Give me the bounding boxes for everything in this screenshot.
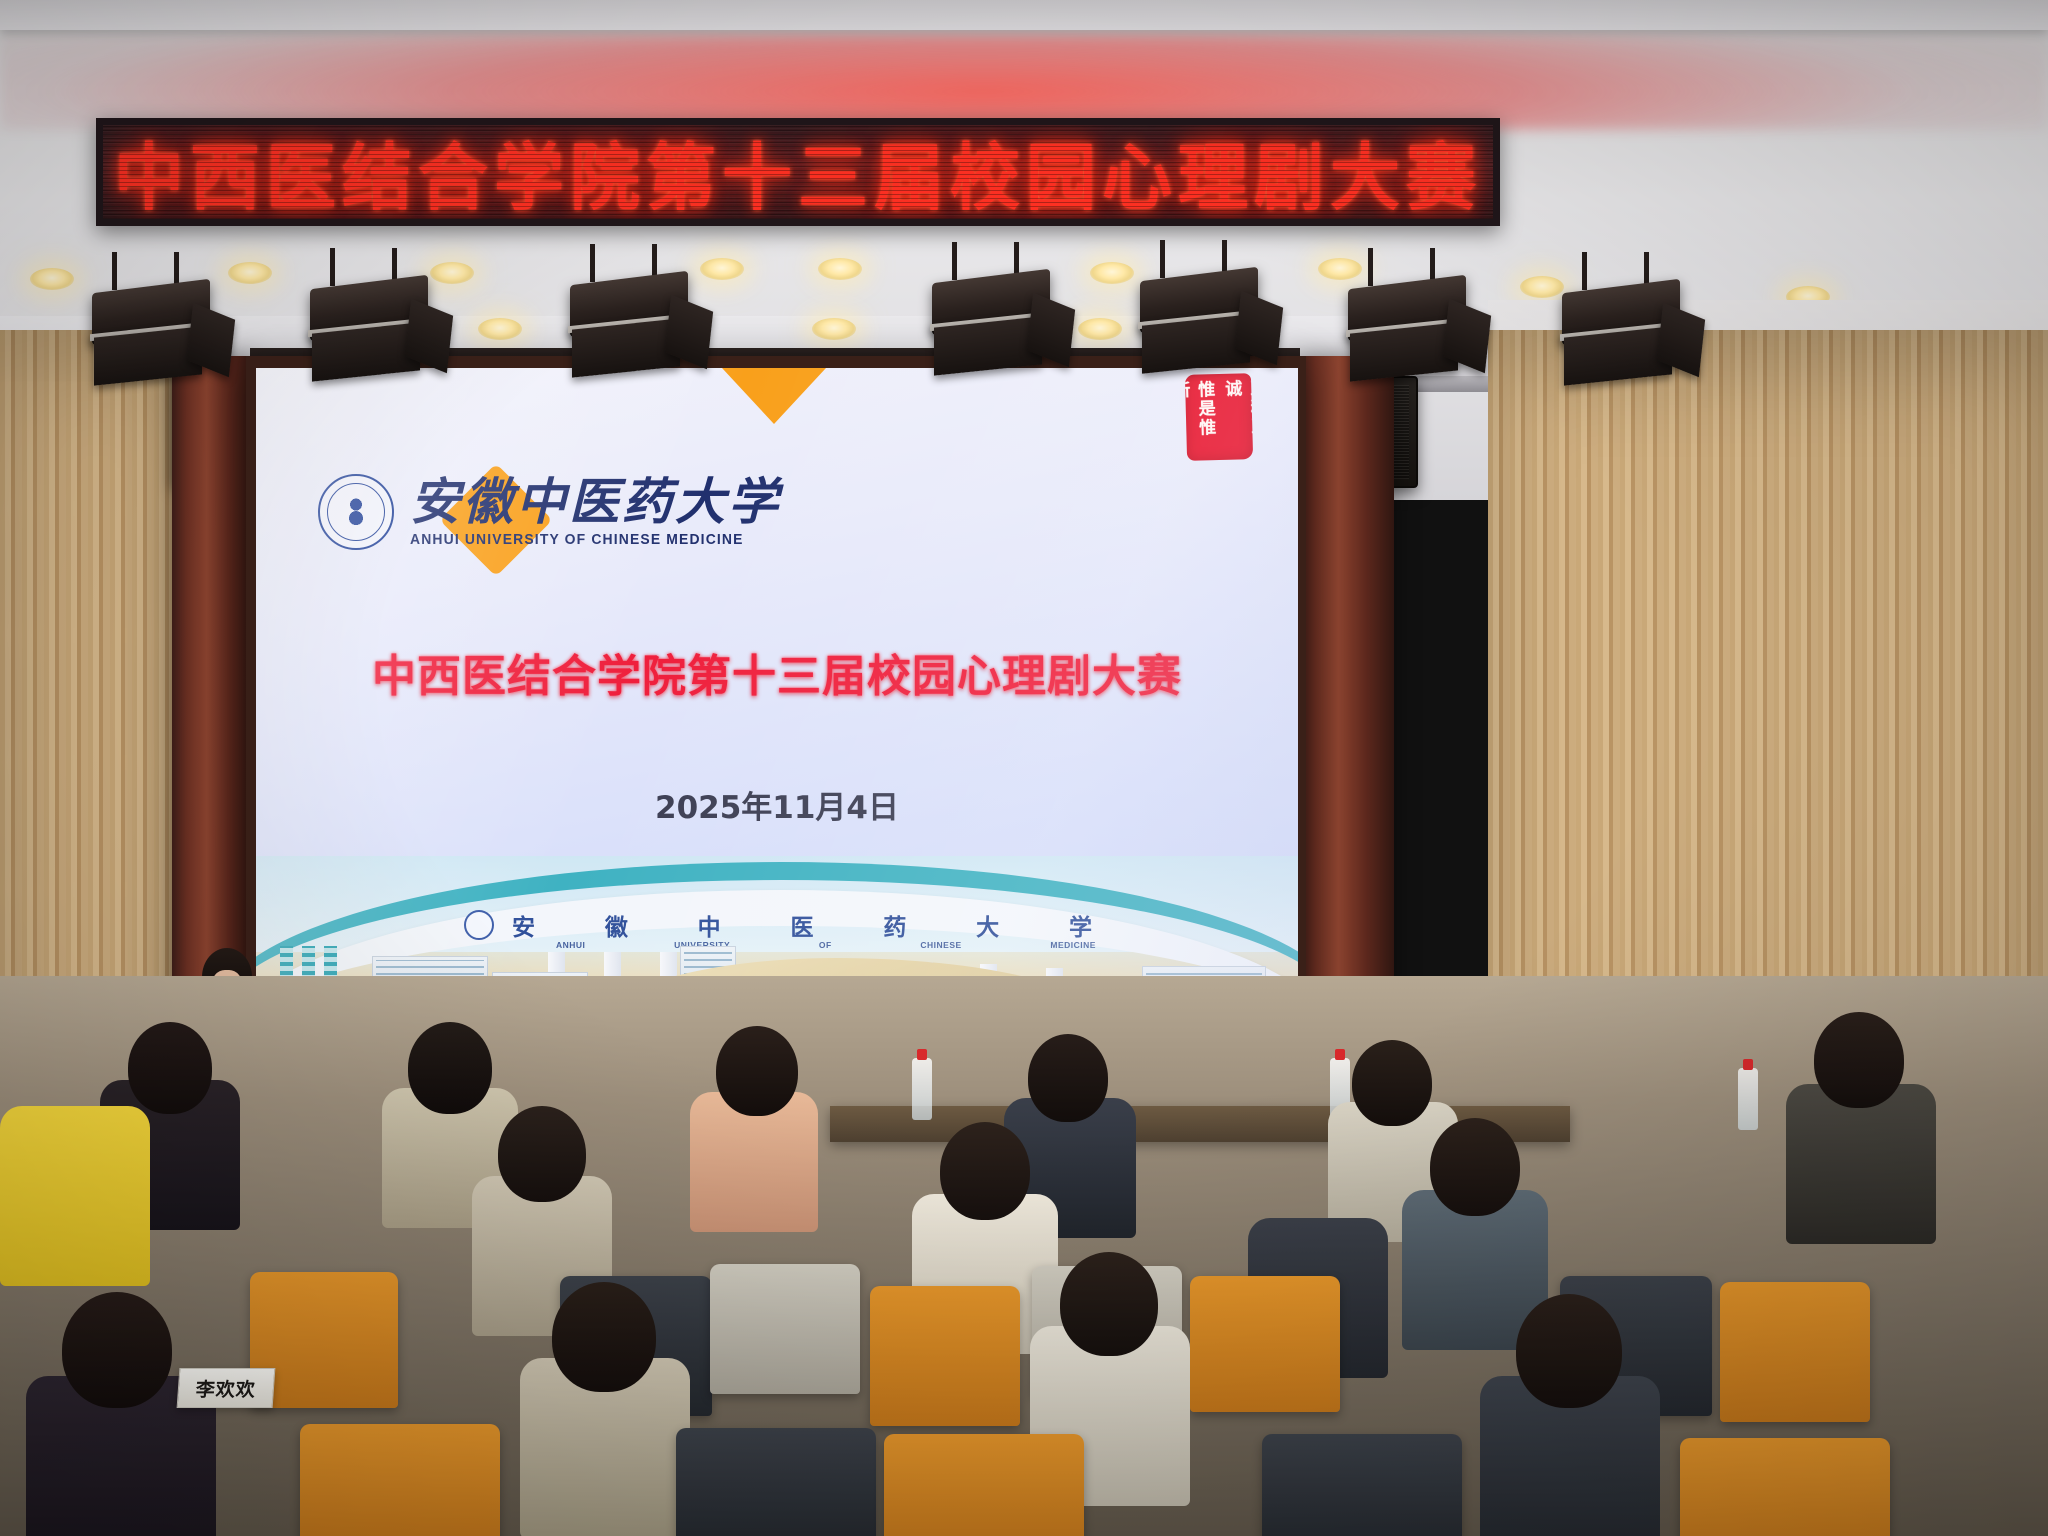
water-bottle-icon (1738, 1068, 1758, 1130)
ceiling-downlight-icon (478, 318, 522, 340)
audience-head (1516, 1294, 1622, 1408)
auditorium-scene: 中西医结合学院第十三届校园心理剧大赛 安徽中医药大学 ANHUI UNIVERS… (0, 0, 2048, 1536)
university-name-en: ANHUI UNIVERSITY OF CHINESE MEDICINE (410, 532, 766, 548)
audience-chair[interactable] (676, 1428, 876, 1536)
stage-light-icon (1126, 274, 1276, 370)
ceiling-downlight-icon (700, 258, 744, 280)
seal-column-1: 至精至诚 (1219, 379, 1253, 454)
audience-torso (0, 1106, 150, 1286)
audience-chair[interactable] (1680, 1438, 1890, 1536)
gate-char: 徽 (605, 908, 628, 942)
stage-column-right (1298, 356, 1394, 1056)
ceiling-downlight-icon (430, 262, 474, 284)
stage-light-icon (1548, 286, 1698, 382)
gate-char: 大 (976, 908, 999, 942)
gate-word: CHINESE (920, 940, 961, 950)
ceiling-red-glow (0, 34, 2048, 130)
led-banner-surface: 中西医结合学院第十三届校园心理剧大赛 (103, 125, 1493, 219)
gate-char: 学 (1069, 908, 1092, 942)
gate-char: 医 (790, 908, 813, 942)
audience-chair[interactable] (1720, 1282, 1870, 1422)
audience-head (552, 1282, 656, 1392)
audience-head (1028, 1034, 1108, 1122)
audience-head (408, 1022, 492, 1114)
led-banner: 中西医结合学院第十三届校园心理剧大赛 (96, 118, 1500, 226)
ceiling-beam (0, 0, 2048, 30)
ceiling-downlight-icon (1318, 258, 1362, 280)
led-banner-text: 中西医结合学院第十三届校园心理剧大赛 (114, 119, 1482, 224)
slide-title: 中西医结合学院第十三届校园心理剧大赛 (256, 640, 1298, 704)
ceiling-downlight-icon (812, 318, 856, 340)
water-bottle-icon (912, 1058, 932, 1120)
slide-date: 2025年11月4日 (256, 782, 1298, 827)
stage-light-icon (296, 282, 446, 378)
audience-chair[interactable] (870, 1286, 1020, 1426)
stage-light-icon (556, 278, 706, 374)
audience-chair[interactable] (300, 1424, 500, 1536)
gate-char: 安 (512, 908, 535, 942)
red-seal-stamp: 至精至诚 惟是惟新 (1185, 373, 1253, 461)
ceiling-downlight-icon (30, 268, 74, 290)
gate-name-cn: 安 徽 中 医 药 大 学 (512, 908, 1092, 942)
seal-column-2: 惟是惟新 (1185, 380, 1219, 455)
gate-char: 药 (883, 908, 906, 942)
university-logo-text: 安徽中医药大学 ANHUI UNIVERSITY OF CHINESE MEDI… (410, 476, 781, 548)
ceiling-downlight-icon (1078, 318, 1122, 340)
seal-stamp-text: 至精至诚 惟是惟新 (1185, 373, 1253, 461)
audience-chair[interactable] (884, 1434, 1084, 1536)
audience-head (1352, 1040, 1432, 1126)
audience-chair[interactable] (1262, 1434, 1462, 1536)
gate-word: OF (819, 940, 832, 950)
gate-emblem-icon (464, 910, 494, 940)
gate-word: ANHUI (556, 940, 585, 950)
ceiling-downlight-icon (228, 262, 272, 284)
gate-word: MEDICINE (1050, 940, 1096, 950)
stage-light-icon (1334, 282, 1484, 378)
gate-char: 中 (698, 908, 721, 942)
nameplate-text: 李欢欢 (195, 1375, 257, 1402)
ceiling-downlight-icon (818, 258, 862, 280)
audience-chair[interactable] (710, 1264, 860, 1394)
stage-light-icon (918, 276, 1068, 372)
university-emblem-icon (318, 474, 394, 550)
audience-area (0, 976, 2048, 1536)
audience-head (1430, 1118, 1520, 1216)
gate-name-en: ANHUI UNIVERSITY OF CHINESE MEDICINE (556, 940, 1096, 950)
stage-light-icon (78, 286, 228, 382)
audience-chair[interactable] (1190, 1276, 1340, 1412)
presentation-slide: 安徽中医药大学 ANHUI UNIVERSITY OF CHINESE MEDI… (256, 368, 1298, 1062)
audience-head (128, 1022, 212, 1114)
university-name-cn: 安徽中医药大学 (410, 476, 781, 529)
audience-head (940, 1122, 1030, 1220)
audience-head (1060, 1252, 1158, 1356)
orange-triangle-decoration (722, 368, 826, 424)
audience-head (1814, 1012, 1904, 1108)
audience-head (716, 1026, 798, 1116)
audience-head (498, 1106, 586, 1202)
audience-torso (1786, 1084, 1936, 1244)
university-logo: 安徽中医药大学 ANHUI UNIVERSITY OF CHINESE MEDI… (318, 474, 781, 550)
podium-nameplate: 李欢欢 (177, 1368, 276, 1408)
audience-head (62, 1292, 172, 1408)
